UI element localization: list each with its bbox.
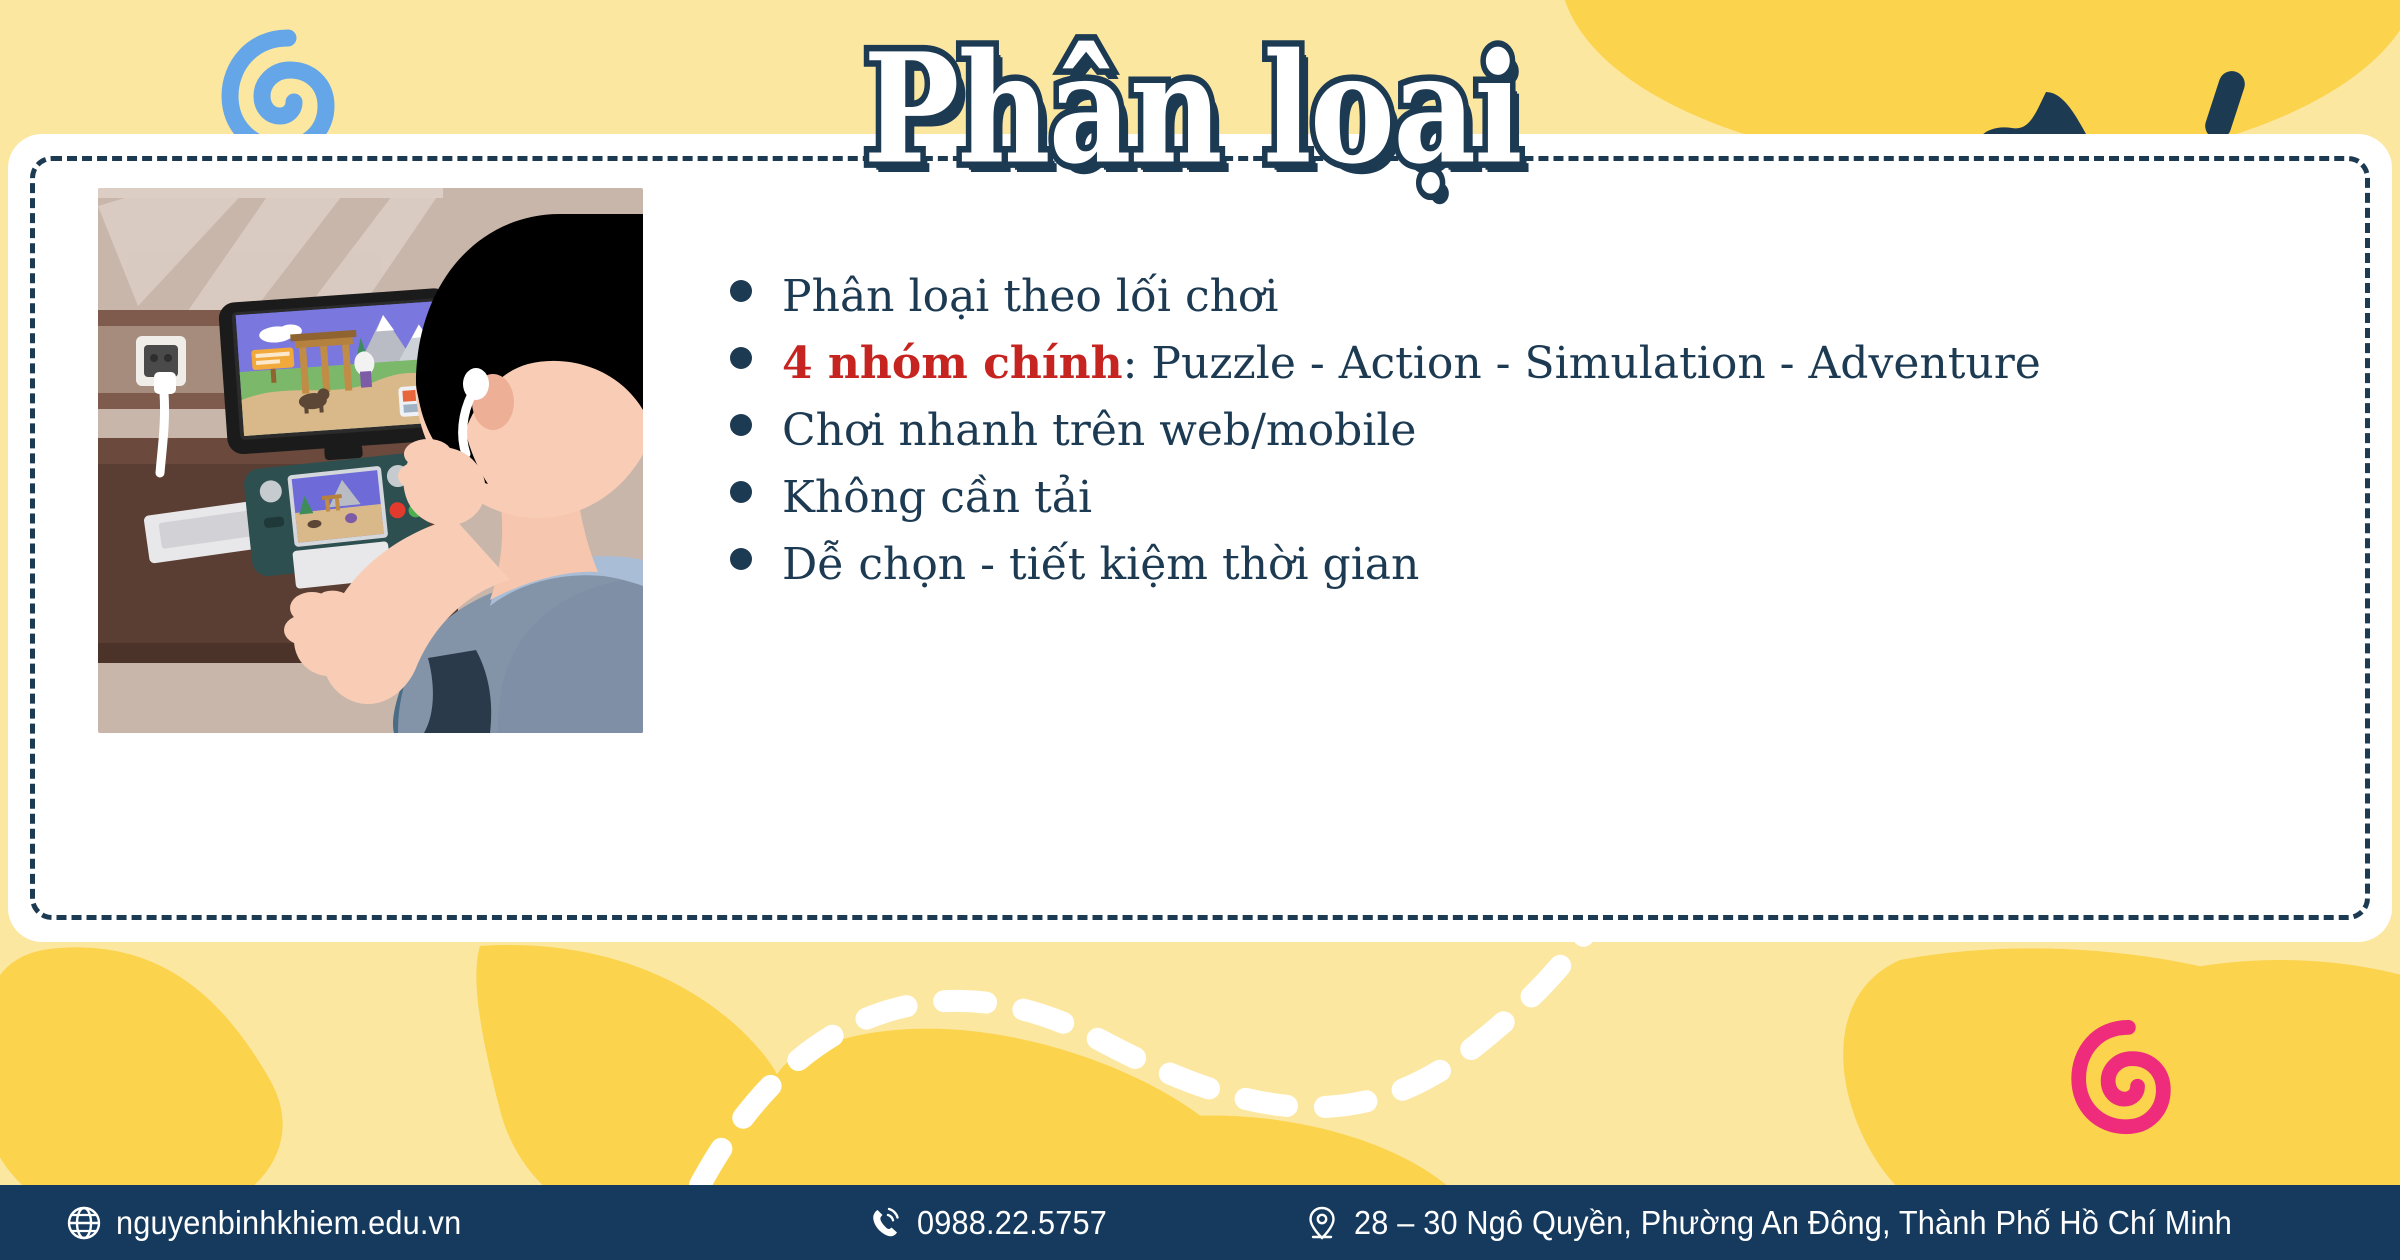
bullet-text: 4 nhóm chính: Puzzle - Action - Simulati… [782,335,2041,393]
bullet-text: Không cần tải [782,469,1092,527]
slide-root: Phân loại [0,0,2400,1260]
bullet-text: Chơi nhanh trên web/mobile [782,402,1416,460]
footer-address: 28 – 30 Ngô Quyền, Phường An Đông, Thành… [1304,1204,2298,1242]
list-item: Chơi nhanh trên web/mobile [730,402,2290,460]
phone-icon [867,1205,903,1241]
list-item: 4 nhóm chính: Puzzle - Action - Simulati… [730,335,2290,393]
globe-icon [66,1205,102,1241]
list-item: Không cần tải [730,469,2290,527]
footer-bar: nguyenbinhkhiem.edu.vn 0988.22.5757 [0,1185,2400,1260]
footer-website[interactable]: nguyenbinhkhiem.edu.vn [66,1204,487,1242]
bullet-dot-icon [730,414,752,436]
bullet-text: Dễ chọn - tiết kiệm thời gian [782,536,1419,594]
page-title-container: Phân loại [0,34,2384,162]
location-pin-icon [1304,1205,1340,1241]
footer-phone-label: 0988.22.5757 [917,1204,1107,1242]
bullet-text: Phân loại theo lối chơi [782,268,1278,326]
footer-address-label: 28 – 30 Ngô Quyền, Phường An Đông, Thành… [1354,1204,2232,1242]
footer-website-label: nguyenbinhkhiem.edu.vn [116,1204,461,1242]
list-item: Dễ chọn - tiết kiệm thời gian [730,536,2290,594]
bullet-rest-text: : Puzzle - Action - Simulation - Adventu… [1123,338,2041,389]
page-title: Phân loại [863,34,1520,185]
bullet-dot-icon [730,481,752,503]
bullet-dot-icon [730,280,752,302]
footer-phone[interactable]: 0988.22.5757 [867,1204,1121,1242]
bullet-accent-text: 4 nhóm chính [782,338,1123,389]
list-item: Phân loại theo lối chơi [730,268,2290,326]
bullet-dot-icon [730,548,752,570]
bullet-dot-icon [730,347,752,369]
illustration-boy-gaming [98,188,643,733]
bullet-list: Phân loại theo lối chơi 4 nhóm chính: Pu… [730,268,2290,603]
